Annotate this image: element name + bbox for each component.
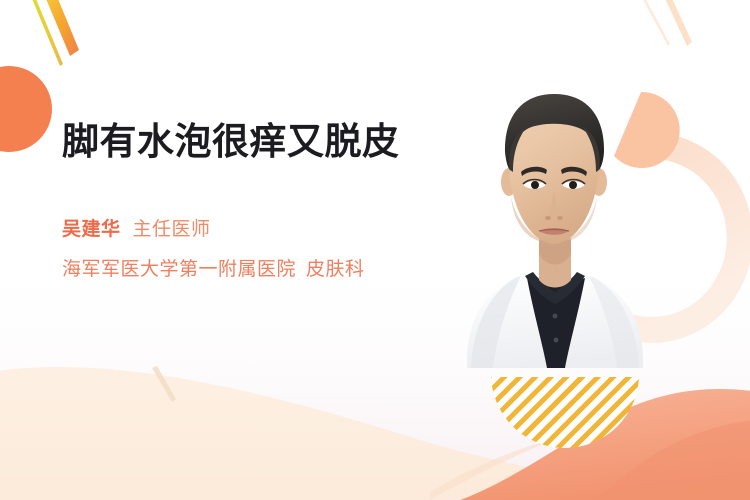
pupil-right bbox=[569, 181, 577, 189]
shirt-button-bottom bbox=[554, 338, 559, 343]
left-orange-circle bbox=[0, 66, 52, 152]
page-title: 脚有水泡很痒又脱皮 bbox=[62, 118, 432, 165]
department-name: 皮肤科 bbox=[306, 259, 365, 280]
hospital-name: 海军军医大学第一附属医院 bbox=[62, 259, 296, 280]
nostril-right bbox=[557, 216, 563, 220]
top-left-streak-group bbox=[30, 0, 79, 66]
bottom-pale-lobe bbox=[430, 438, 560, 500]
pupil-left bbox=[531, 181, 539, 189]
top-right-streak-group bbox=[640, 0, 692, 46]
doctor-byline: 吴建华主任医师 bbox=[62, 216, 432, 245]
doctor-name: 吴建华 bbox=[62, 219, 121, 240]
doctor-intro-card: 脚有水泡很痒又脱皮 吴建华主任医师 海军军医大学第一附属医院皮肤科 bbox=[0, 0, 750, 500]
streak-orange-thick bbox=[44, 0, 79, 56]
streak-yellow-thin bbox=[30, 0, 63, 66]
bottom-right-salmon-lobe bbox=[588, 420, 750, 500]
streak-peach-thick bbox=[663, 0, 692, 46]
doctor-portrait bbox=[447, 78, 663, 368]
wave-streak bbox=[152, 366, 176, 402]
text-content-block: 脚有水泡很痒又脱皮 吴建华主任医师 海军军医大学第一附属医院皮肤科 bbox=[62, 118, 432, 281]
shirt-button-top bbox=[553, 314, 558, 319]
nostril-left bbox=[545, 216, 551, 220]
doctor-title: 主任医师 bbox=[133, 219, 211, 240]
doctor-affiliation: 海军军医大学第一附属医院皮肤科 bbox=[62, 254, 432, 281]
streak-peach-thin bbox=[640, 0, 670, 46]
portrait-illustration bbox=[447, 78, 663, 368]
